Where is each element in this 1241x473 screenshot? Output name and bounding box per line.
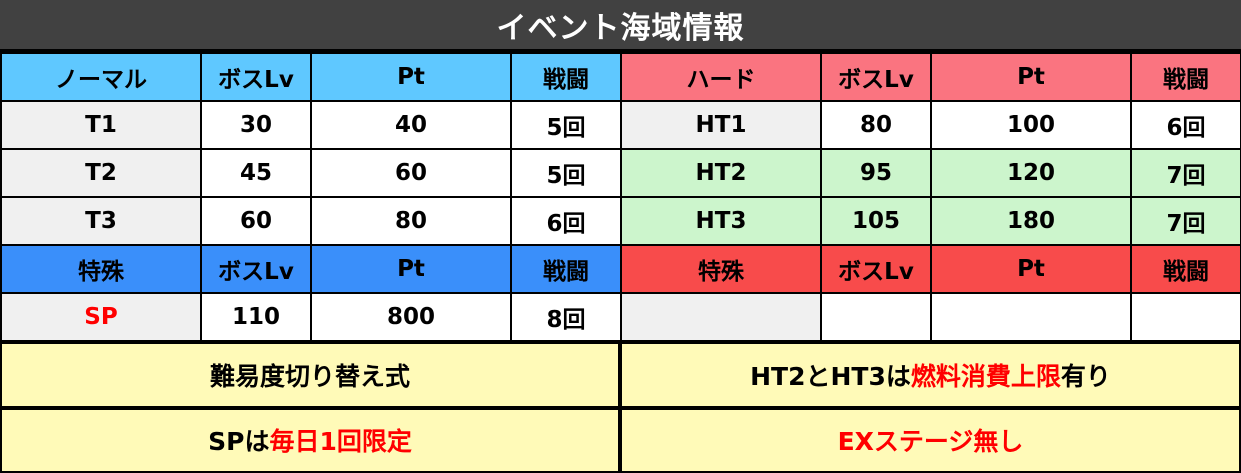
note-left-2: SPは毎日1回限定 (0, 408, 620, 473)
header-hard-pt: Pt (931, 53, 1131, 101)
row-label-t2: T2 (1, 149, 201, 197)
hard-difficulty-table: ハード ボスLv Pt 戦闘 HT1 80 100 6回 HT2 95 (620, 52, 1241, 342)
header-special-label-right: 特殊 (621, 245, 821, 293)
header-special-battle-right: 戦闘 (1131, 245, 1241, 293)
row-battles-special-right (1131, 293, 1241, 341)
header-normal-battle: 戦闘 (511, 53, 621, 101)
row-bosslv-t3: 60 (201, 197, 311, 245)
note-right-2-highlight: EXステージ無し (838, 422, 1024, 458)
row-bosslv-t2: 45 (201, 149, 311, 197)
table-row: T1 30 40 5回 (1, 101, 621, 149)
header-special-bosslv-right: ボスLv (821, 245, 931, 293)
note-left-2-highlight: 毎日1回限定 (269, 422, 411, 458)
row-pt-ht1: 100 (931, 101, 1131, 149)
right-table-wrapper: ハード ボスLv Pt 戦闘 HT1 80 100 6回 HT2 95 (620, 52, 1241, 342)
notes-container: 難易度切り替え式 HT2とHT3は燃料消費上限有り SPは毎日1回限定 EXステ… (0, 342, 1241, 473)
row-pt-special-right (931, 293, 1131, 341)
normal-header-row: ノーマル ボスLv Pt 戦闘 (1, 53, 621, 101)
left-table-wrapper: ノーマル ボスLv Pt 戦闘 T1 30 40 5回 T2 45 60 (0, 52, 620, 342)
header-hard-bosslv: ボスLv (821, 53, 931, 101)
table-row: T2 45 60 5回 (1, 149, 621, 197)
row-battles-ht2: 7回 (1131, 149, 1241, 197)
table-row (621, 293, 1241, 341)
note-right-1-suffix: 有り (1061, 357, 1111, 393)
note-right-2: EXステージ無し (620, 408, 1241, 473)
table-row: HT1 80 100 6回 (621, 101, 1241, 149)
row-battles-t3: 6回 (511, 197, 621, 245)
header-normal-pt: Pt (311, 53, 511, 101)
note-right-1: HT2とHT3は燃料消費上限有り (620, 342, 1241, 408)
row-label-t1: T1 (1, 101, 201, 149)
row-pt-t2: 60 (311, 149, 511, 197)
note-row-1: 難易度切り替え式 HT2とHT3は燃料消費上限有り (0, 342, 1241, 408)
header-special-label-left: 特殊 (1, 245, 201, 293)
table-row: T3 60 80 6回 (1, 197, 621, 245)
row-battles-ht1: 6回 (1131, 101, 1241, 149)
header-special-pt-right: Pt (931, 245, 1131, 293)
header-normal-bosslv: ボスLv (201, 53, 311, 101)
row-bosslv-ht3: 105 (821, 197, 931, 245)
row-battles-t2: 5回 (511, 149, 621, 197)
header-normal-label: ノーマル (1, 53, 201, 101)
event-info-sheet: イベント海域情報 ノーマル ボスLv Pt 戦闘 T1 30 (0, 0, 1241, 473)
row-label-ht1: HT1 (621, 101, 821, 149)
row-pt-t3: 80 (311, 197, 511, 245)
header-hard-label: ハード (621, 53, 821, 101)
row-bosslv-ht1: 80 (821, 101, 931, 149)
row-label-ht3: HT3 (621, 197, 821, 245)
hard-header-row: ハード ボスLv Pt 戦闘 (621, 53, 1241, 101)
tables-container: ノーマル ボスLv Pt 戦闘 T1 30 40 5回 T2 45 60 (0, 52, 1241, 342)
row-bosslv-ht2: 95 (821, 149, 931, 197)
note-right-1-highlight: 燃料消費上限 (911, 357, 1061, 393)
header-special-bosslv-left: ボスLv (201, 245, 311, 293)
row-pt-sp: 800 (311, 293, 511, 341)
header-special-pt-left: Pt (311, 245, 511, 293)
normal-difficulty-table: ノーマル ボスLv Pt 戦闘 T1 30 40 5回 T2 45 60 (0, 52, 622, 342)
note-row-2: SPは毎日1回限定 EXステージ無し (0, 408, 1241, 473)
row-label-special-right (621, 293, 821, 341)
row-battles-sp: 8回 (511, 293, 621, 341)
table-row: SP 110 800 8回 (1, 293, 621, 341)
special-header-row-left: 特殊 ボスLv Pt 戦闘 (1, 245, 621, 293)
table-row: HT3 105 180 7回 (621, 197, 1241, 245)
row-pt-t1: 40 (311, 101, 511, 149)
row-pt-ht2: 120 (931, 149, 1131, 197)
row-bosslv-t1: 30 (201, 101, 311, 149)
row-bosslv-special-right (821, 293, 931, 341)
special-header-row-right: 特殊 ボスLv Pt 戦闘 (621, 245, 1241, 293)
row-label-sp: SP (1, 293, 201, 341)
header-special-battle-left: 戦闘 (511, 245, 621, 293)
note-right-1-prefix: HT2とHT3は (750, 357, 911, 393)
row-label-t3: T3 (1, 197, 201, 245)
header-hard-battle: 戦闘 (1131, 53, 1241, 101)
row-pt-ht3: 180 (931, 197, 1131, 245)
row-battles-ht3: 7回 (1131, 197, 1241, 245)
note-left-2-prefix: SPは (208, 422, 269, 458)
page-title: イベント海域情報 (0, 0, 1241, 52)
note-left-1: 難易度切り替え式 (0, 342, 620, 408)
row-battles-t1: 5回 (511, 101, 621, 149)
row-bosslv-sp: 110 (201, 293, 311, 341)
row-label-ht2: HT2 (621, 149, 821, 197)
table-row: HT2 95 120 7回 (621, 149, 1241, 197)
